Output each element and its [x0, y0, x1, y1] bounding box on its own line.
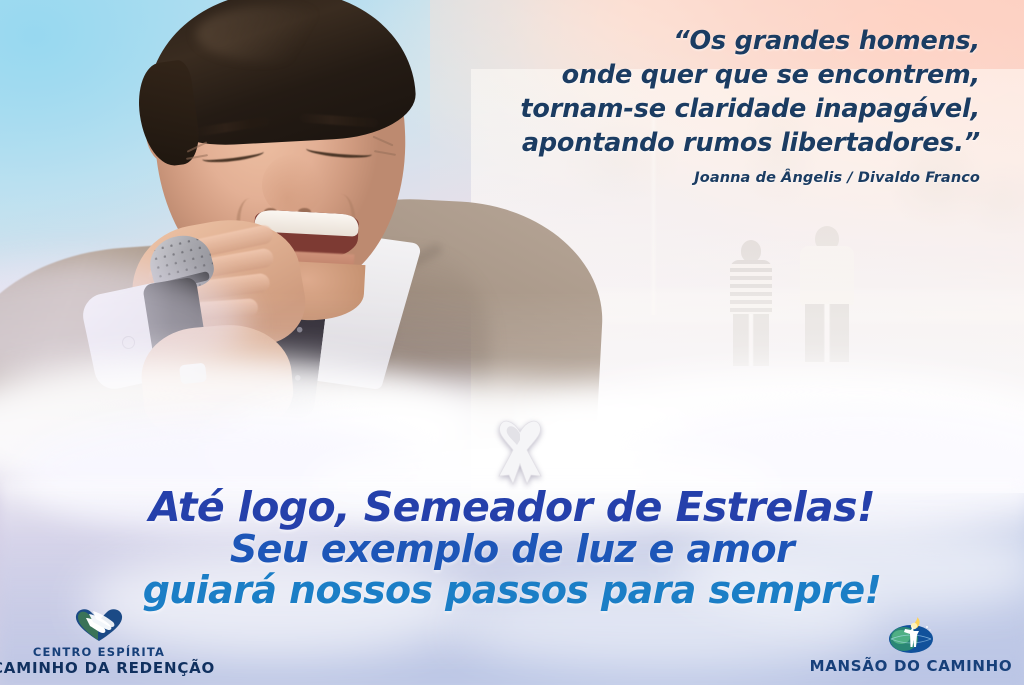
globe-figure-flame-icon	[883, 617, 939, 655]
logo-right-line-1: MANSÃO DO CAMINHO	[804, 657, 1018, 675]
memorial-headline: Até logo, Semeador de Estrelas! Seu exem…	[0, 486, 1024, 610]
logo-left-line-2: CAMINHO DA REDENÇÃO	[0, 659, 206, 677]
nose	[262, 154, 324, 216]
logo-mansao-do-caminho: MANSÃO DO CAMINHO	[804, 617, 1018, 675]
hair-highlight	[196, 6, 346, 62]
logo-left-line-1: CENTRO ESPÍRITA	[0, 645, 206, 659]
cuff-button	[122, 336, 135, 349]
finger-ring	[179, 363, 207, 385]
headline-line-2: Seu exemplo de luz e amor	[0, 529, 1024, 569]
logo-centro-espirita: CENTRO ESPÍRITA CAMINHO DA REDENÇÃO	[0, 607, 206, 677]
quote-line-2: onde quer que se encontrem,	[380, 58, 980, 92]
memorial-poster: “Os grandes homens, onde quer que se enc…	[0, 0, 1024, 685]
headline-line-1: Até logo, Semeador de Estrelas!	[0, 486, 1024, 529]
quote-text: “Os grandes homens, onde quer que se enc…	[380, 24, 980, 160]
quote-line-3: tornam-se claridade inapagável,	[380, 92, 980, 126]
headline-line-3: guiará nossos passos para sempre!	[0, 570, 1024, 610]
quote-line-4: apontando rumos libertadores.”	[380, 126, 980, 160]
white-mourning-ribbon	[489, 412, 551, 488]
quote-attribution: Joanna de Ângelis / Divaldo Franco	[380, 170, 980, 186]
quote-line-1: “Os grandes homens,	[380, 24, 980, 58]
heart-hands-icon	[73, 607, 125, 643]
